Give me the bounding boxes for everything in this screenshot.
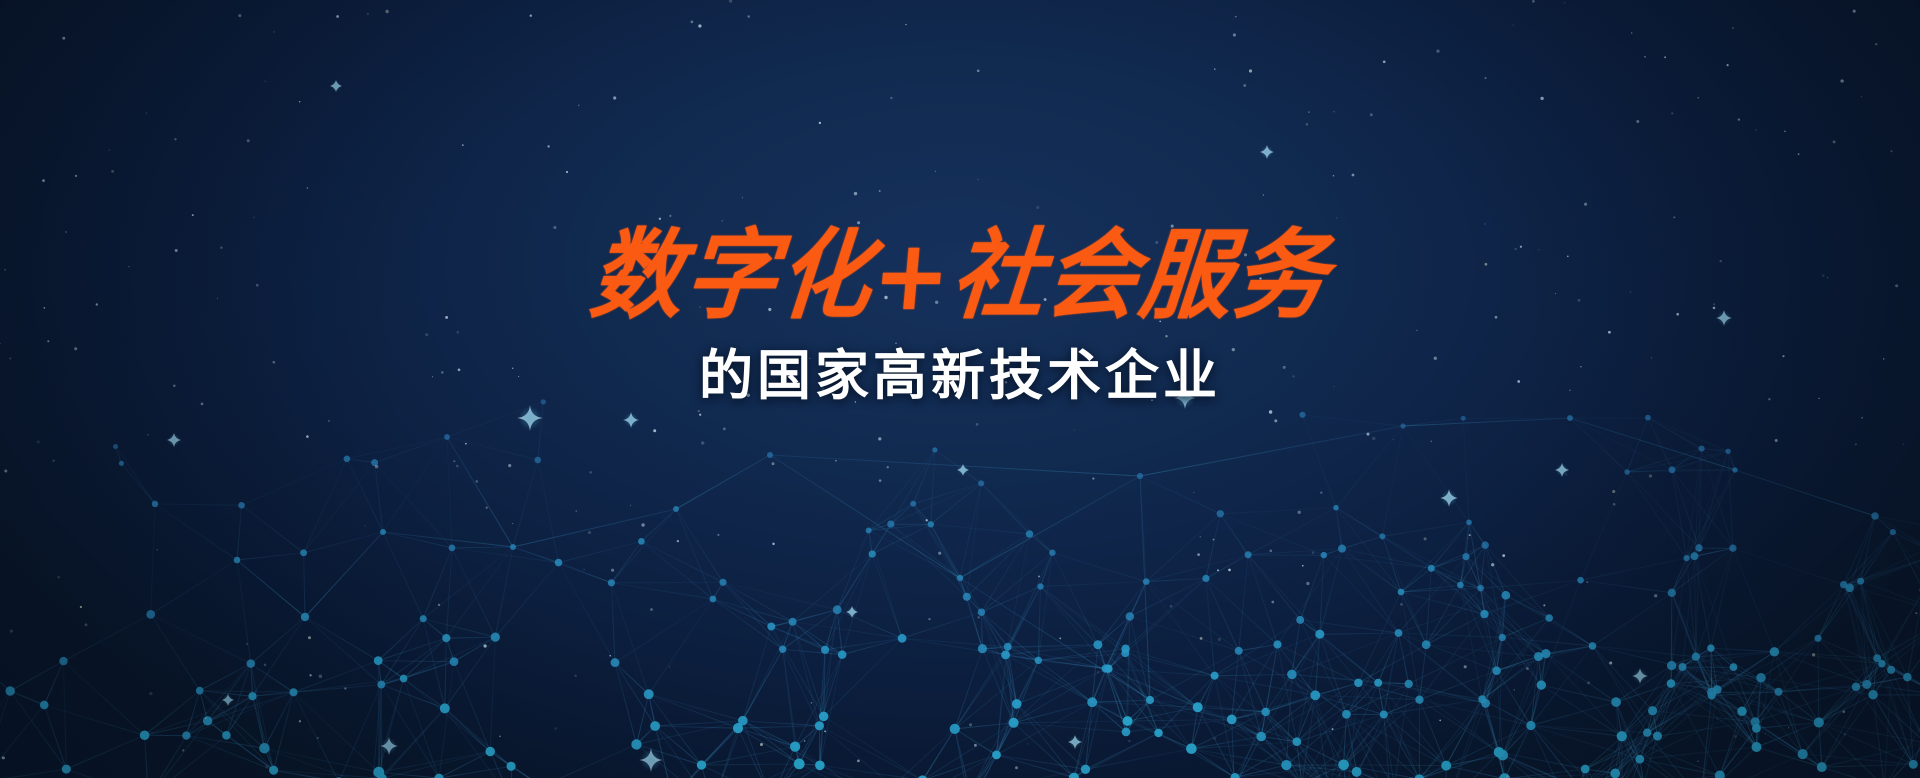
sparkle-glints-graphic [0, 0, 1920, 778]
banner-content: 数字化+社会服务 的国家高新技术企业 [0, 0, 1920, 778]
network-constellation-graphic [0, 0, 1920, 778]
banner-title-sub: 的国家高新技术企业 [699, 346, 1221, 405]
banner-title-main: 数字化+社会服务 [587, 225, 1333, 326]
hero-banner: 数字化+社会服务 的国家高新技术企业 [0, 0, 1920, 778]
starfield-graphic [0, 0, 1920, 778]
vignette-overlay [0, 0, 1920, 778]
